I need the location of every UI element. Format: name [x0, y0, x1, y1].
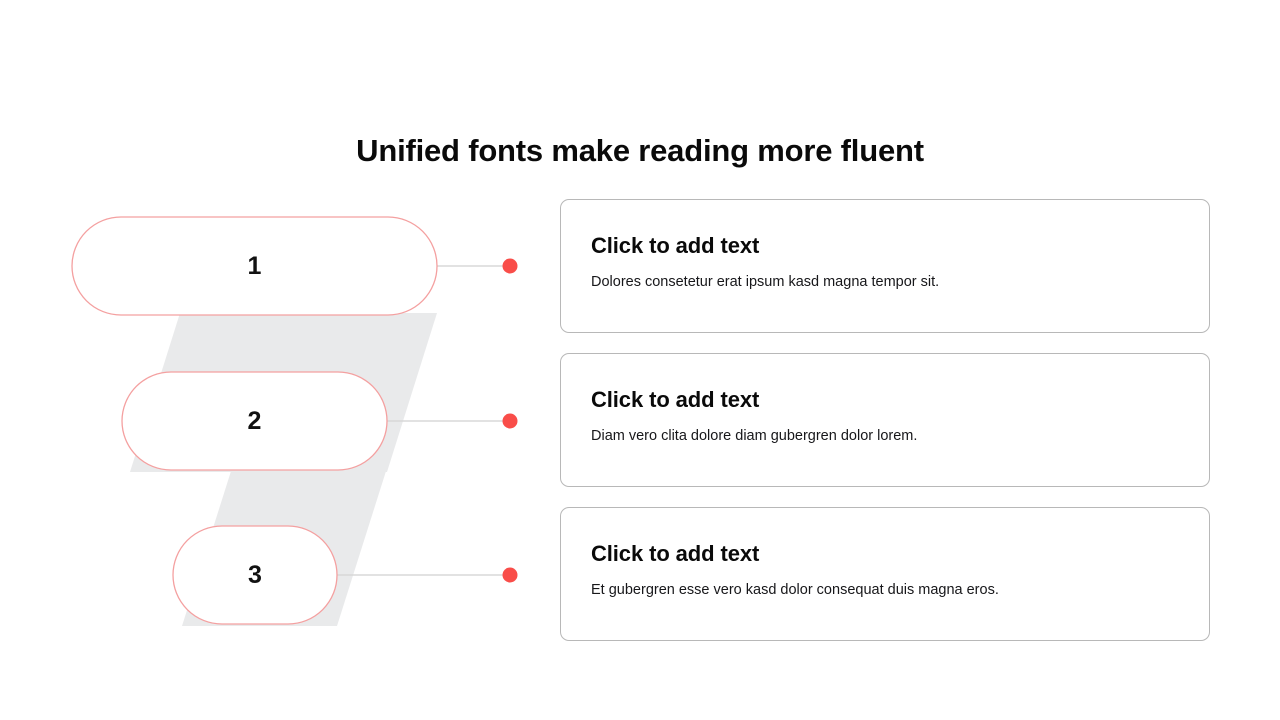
text-card-1[interactable]: Click to add text Dolores consetetur era… — [560, 199, 1210, 333]
funnel-svg — [0, 0, 560, 720]
funnel-stage-label-3: 3 — [173, 563, 337, 588]
card-body-1[interactable]: Dolores consetetur erat ipsum kasd magna… — [591, 272, 1179, 292]
funnel-stage-label-1: 1 — [72, 254, 437, 279]
card-body-3[interactable]: Et gubergren esse vero kasd dolor conseq… — [591, 580, 1179, 600]
text-card-2[interactable]: Click to add text Diam vero clita dolore… — [560, 353, 1210, 487]
funnel-stage-label-2: 2 — [122, 409, 387, 434]
text-card-3[interactable]: Click to add text Et gubergren esse vero… — [560, 507, 1210, 641]
slide-canvas: Unified fonts make reading more fluent 1… — [0, 0, 1280, 720]
funnel-diagram: 1 2 3 — [0, 0, 560, 720]
card-body-2[interactable]: Diam vero clita dolore diam gubergren do… — [591, 426, 1179, 446]
connector-dot-icon-3 — [503, 568, 518, 583]
connector-dot-icon-2 — [503, 414, 518, 429]
card-heading-1[interactable]: Click to add text — [591, 233, 1179, 259]
card-heading-2[interactable]: Click to add text — [591, 387, 1179, 413]
connector-dot-icon-1 — [503, 259, 518, 274]
card-heading-3[interactable]: Click to add text — [591, 541, 1179, 567]
